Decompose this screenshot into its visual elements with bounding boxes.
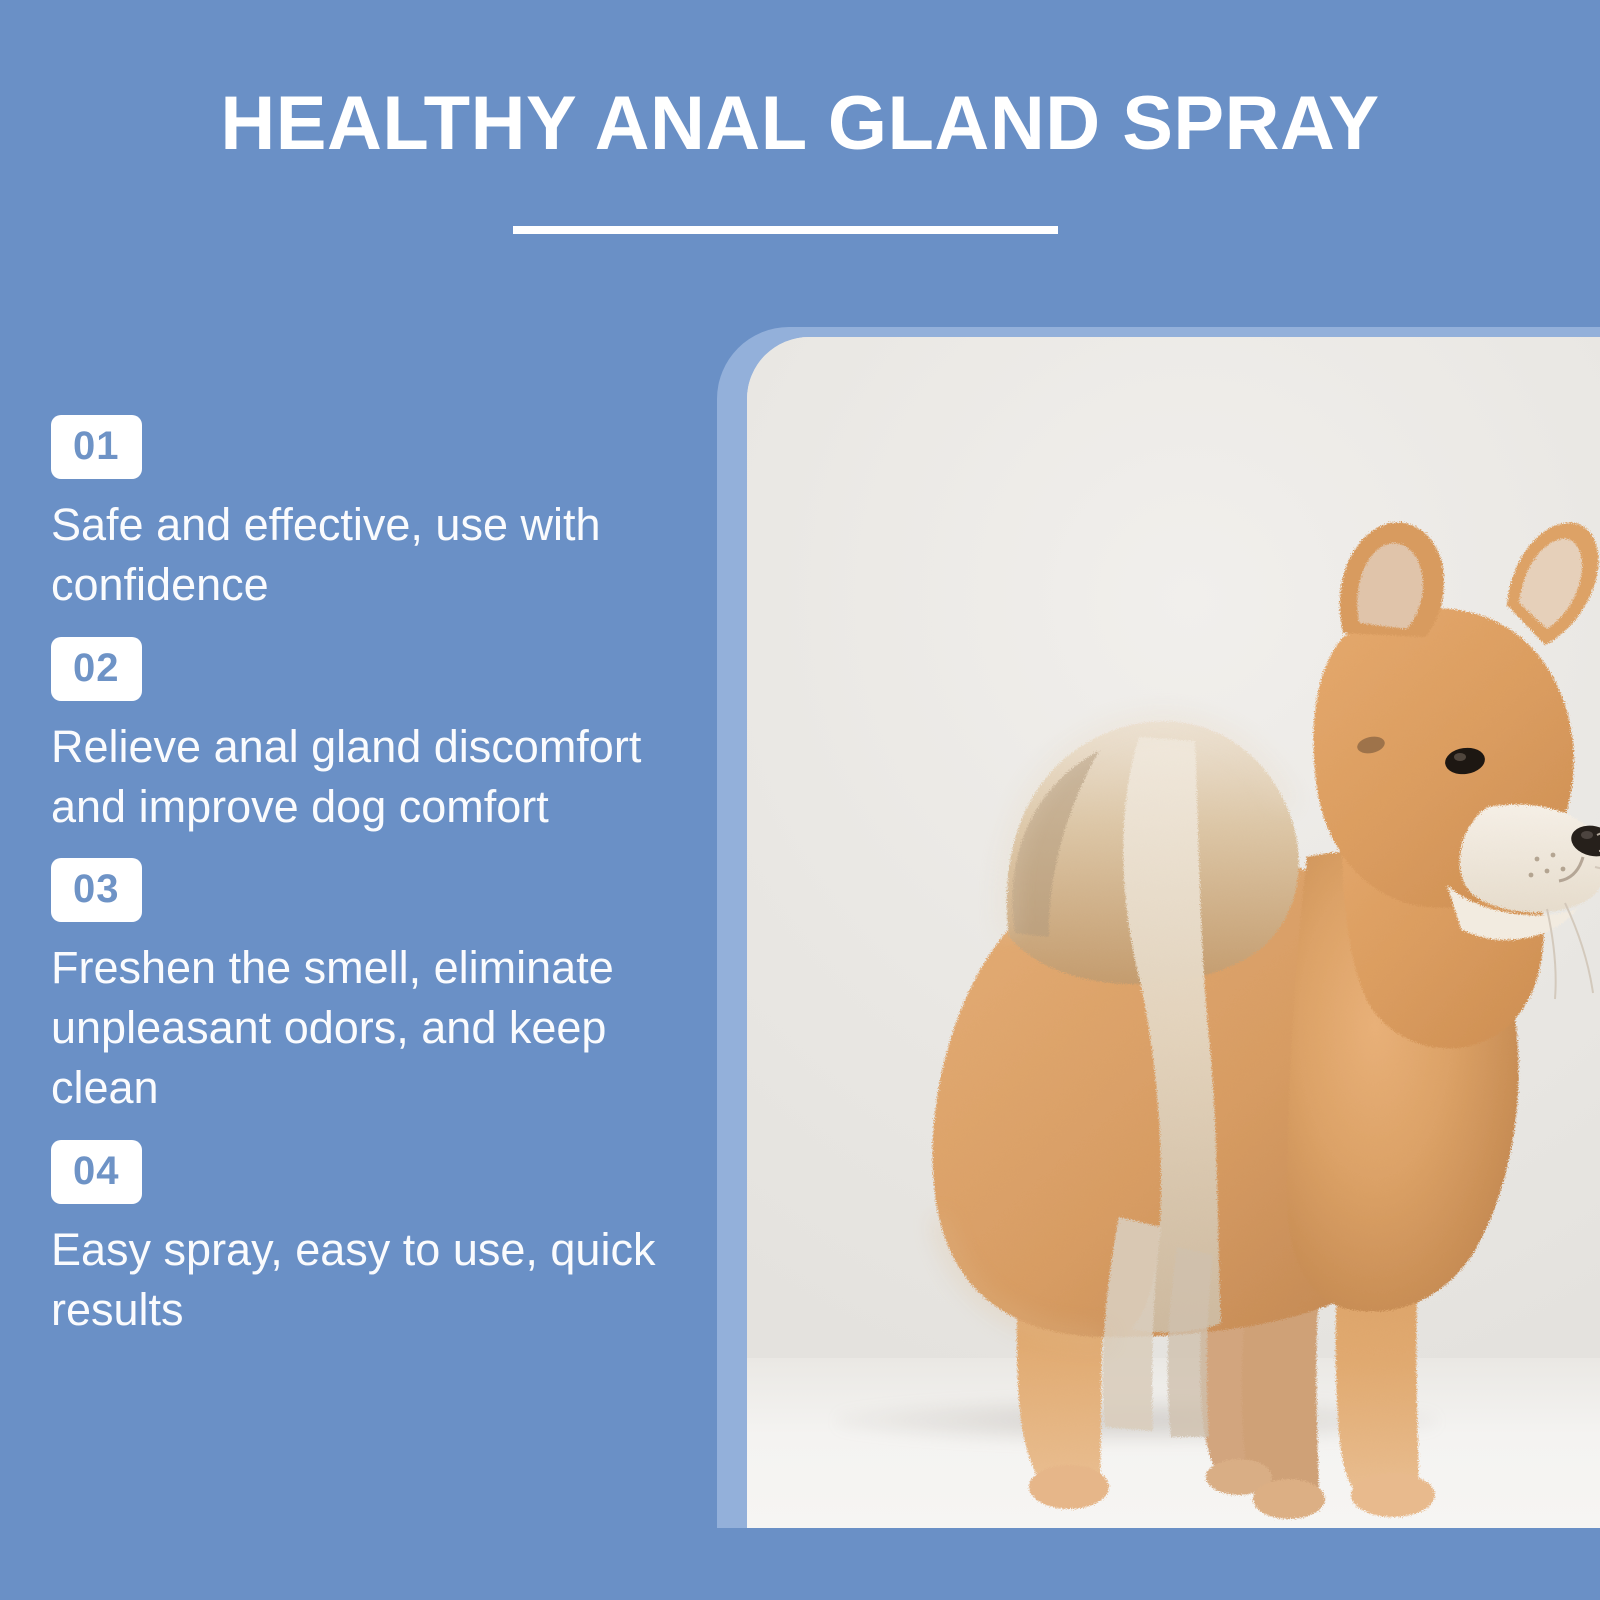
feature-item: 04 Easy spray, easy to use, quick result… [51,1140,691,1340]
feature-description: Relieve anal gland discomfort and improv… [51,717,691,837]
feature-item: 02 Relieve anal gland discomfort and imp… [51,637,691,837]
poster-header: HEALTHY ANAL GLAND SPRAY [0,0,1600,300]
feature-description: Safe and effective, use with confidence [51,495,691,615]
product-feature-poster: HEALTHY ANAL GLAND SPRAY [0,0,1600,1600]
feature-number-badge: 03 [51,858,142,922]
feature-number-badge: 02 [51,637,142,701]
feature-item: 01 Safe and effective, use with confiden… [51,415,691,615]
feature-description: Easy spray, easy to use, quick results [51,1220,691,1340]
shiba-inu-puppy-image [747,337,1600,1528]
title-divider [513,226,1058,234]
page-title: HEALTHY ANAL GLAND SPRAY [0,86,1600,162]
feature-number-badge: 01 [51,415,142,479]
feature-item: 03 Freshen the smell, eliminate unpleasa… [51,858,691,1118]
feature-description: Freshen the smell, eliminate unpleasant … [51,938,691,1118]
feature-number-badge: 04 [51,1140,142,1204]
product-photo-panel [747,337,1600,1528]
feature-list: 01 Safe and effective, use with confiden… [51,415,691,1362]
